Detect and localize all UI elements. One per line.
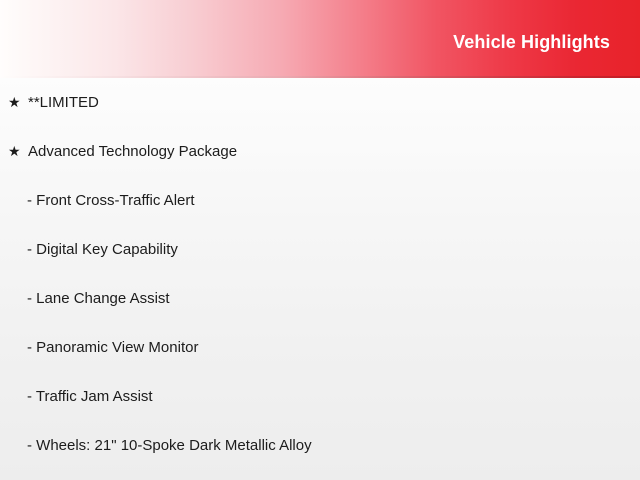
list-item: - Digital Key Capability [0, 225, 640, 274]
header-banner: Vehicle Highlights [0, 0, 640, 78]
list-item-label: - Front Cross-Traffic Alert [27, 192, 195, 209]
list-item-label: - Lane Change Assist [27, 290, 170, 307]
list-item: ★**LIMITED [0, 78, 640, 127]
highlights-list: ★**LIMITED★Advanced Technology Package- … [0, 78, 640, 470]
list-item: - Panoramic View Monitor [0, 323, 640, 372]
list-item: - Traffic Jam Assist [0, 372, 640, 421]
list-item: - Wheels: 21" 10-Spoke Dark Metallic All… [0, 421, 640, 470]
list-item-label: - Wheels: 21" 10-Spoke Dark Metallic All… [27, 437, 312, 454]
page-title: Vehicle Highlights [453, 31, 610, 53]
star-bullet-icon: ★ [8, 127, 21, 176]
list-item-label: - Traffic Jam Assist [27, 388, 153, 405]
list-item: - Front Cross-Traffic Alert [0, 176, 640, 225]
vehicle-highlights-page: Vehicle Highlights ★**LIMITED★Advanced T… [0, 0, 640, 480]
star-bullet-icon: ★ [8, 78, 21, 127]
list-item-label: - Digital Key Capability [27, 241, 178, 258]
list-item: - Lane Change Assist [0, 274, 640, 323]
list-item: ★Advanced Technology Package [0, 127, 640, 176]
list-item-label: Advanced Technology Package [28, 143, 237, 160]
list-item-label: **LIMITED [28, 94, 99, 111]
list-item-label: - Panoramic View Monitor [27, 339, 198, 356]
